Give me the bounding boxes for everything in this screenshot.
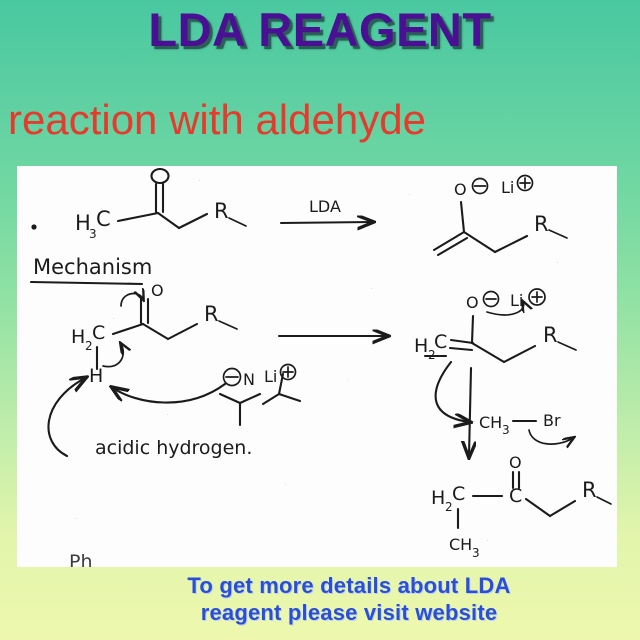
label-h2c-intermediate-c: C [434, 331, 447, 353]
label-acidic-h: H [89, 365, 103, 387]
label-product-carbonyl-o: O [509, 453, 522, 472]
label-r-top: R [214, 199, 229, 223]
label-mechanism: Mechanism [33, 255, 152, 279]
whiteboard-panel: .ink { stroke:#1b1b1b; stroke-width:2.1;… [17, 166, 617, 567]
structure-mechanism-substrate: H 2 C O R [71, 281, 237, 369]
heading-mechanism: Mechanism [31, 255, 152, 284]
structure-lda-base: N Li [220, 365, 300, 426]
scan-speck [487, 540, 488, 541]
structure-methyl-bromide: CH 3 Br [469, 368, 573, 456]
slide-canvas: LDA REAGENT reaction with aldehyde .ink … [0, 0, 640, 640]
scan-speck [347, 380, 348, 381]
structure-final-product: H 2 C CH 3 C O R [431, 453, 611, 560]
structure-enolate-intermediate: O Li H 2 C R [414, 289, 576, 422]
label-lithium: Li [501, 178, 514, 197]
label-ch3: CH [479, 413, 502, 432]
label-h2c-carbon: C [92, 322, 105, 344]
scan-speck [557, 262, 558, 263]
scan-speck [167, 414, 168, 415]
label-lithium-2: Li [510, 291, 523, 310]
label-h2c-intermediate: H [414, 335, 428, 357]
scan-speck [75, 518, 76, 519]
page-title: LDA REAGENT [0, 2, 640, 58]
label-lithium-base: Li [264, 367, 277, 386]
label-product-r: R [582, 478, 597, 502]
scan-speck [285, 484, 286, 485]
scan-speck [371, 288, 372, 289]
label-o-mechanism: O [151, 281, 164, 300]
footer-line-1: To get more details about LDA [58, 572, 640, 599]
footer-line-2: reagent please visit website [58, 599, 640, 626]
handwritten-mechanism-sketch: .ink { stroke:#1b1b1b; stroke-width:2.1;… [17, 166, 617, 567]
label-nitrogen: N [243, 370, 255, 389]
label-r-product: R [534, 212, 549, 236]
scan-speck [113, 318, 114, 319]
label-product-ch3: CH [449, 535, 472, 554]
label-ch3-subscript: 3 [502, 423, 510, 437]
label-lda-reagent: LDA [309, 197, 341, 216]
label-r-intermediate: R [543, 323, 558, 347]
page-subtitle: reaction with aldehyde [8, 96, 628, 144]
label-enolate-oxygen: O [454, 180, 467, 199]
label-product-h2c: H [431, 487, 445, 509]
reaction-arrow-lda: LDA [281, 197, 372, 223]
label-product-carbonyl-c: C [509, 485, 522, 507]
label-product-c: C [452, 483, 465, 505]
structure-starting-ketone: H 3 C R [31, 169, 246, 241]
label-h3c-carbon: C [96, 207, 111, 231]
bullet-point-icon [31, 224, 36, 229]
label-r-mechanism: R [204, 302, 219, 326]
footer-call-to-action: To get more details about LDA reagent pl… [0, 572, 640, 626]
cut-off-text-bottom: Ph [69, 551, 93, 567]
label-br: Br [543, 411, 561, 430]
scan-speck [199, 180, 200, 181]
scan-speck [409, 194, 410, 195]
label-o-intermediate: O [466, 293, 479, 312]
structure-lithium-enolate: O Li R [434, 176, 567, 256]
label-cut-text: Ph [69, 551, 93, 567]
label-acidic-hydrogen-caption: acidic hydrogen. [95, 437, 252, 459]
annotation-acidic-hydrogen: H acidic hydrogen. [48, 365, 252, 459]
label-h2c: H [71, 326, 85, 348]
label-product-ch3-sub: 3 [472, 546, 480, 560]
